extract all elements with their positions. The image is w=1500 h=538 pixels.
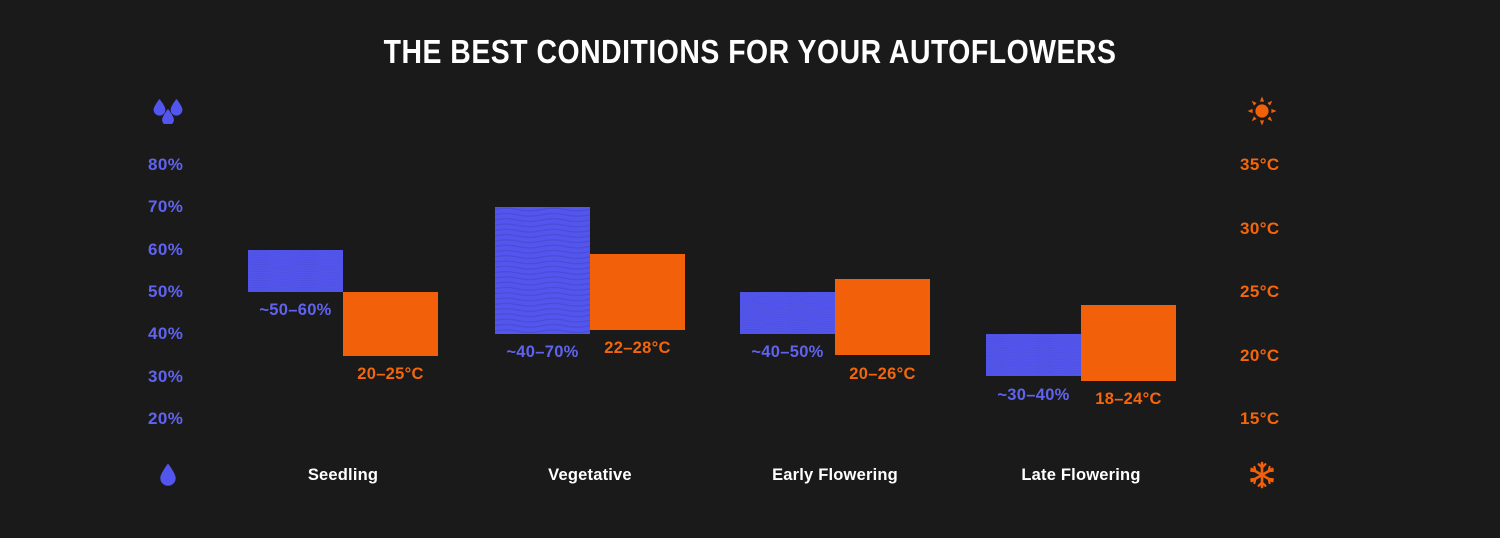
temperature-bar (835, 279, 930, 355)
humidity-bar (986, 334, 1081, 376)
humidity-bar (495, 207, 590, 334)
infographic-root: THE BEST CONDITIONS FOR YOUR AUTOFLOWERS… (0, 0, 1500, 538)
temperature-bar (590, 254, 685, 330)
humidity-value-label: ~40–50% (751, 343, 823, 362)
humidity-value-label: ~40–70% (506, 343, 578, 362)
temperature-value-label: 22–28°C (604, 339, 671, 358)
humidity-bar (740, 292, 835, 334)
category-label: Early Flowering (772, 466, 898, 485)
category-label: Late Flowering (1021, 466, 1140, 485)
humidity-value-label: ~50–60% (259, 301, 331, 320)
chart-plot-area: ~50–60%20–25°CSeedling~40–70%22–28°CVege… (0, 0, 1500, 538)
humidity-bar (248, 250, 343, 292)
category-label: Vegetative (548, 466, 632, 485)
category-label: Seedling (308, 466, 378, 485)
humidity-value-label: ~30–40% (997, 386, 1069, 405)
temperature-bar (1081, 305, 1176, 381)
temperature-bar (343, 292, 438, 356)
temperature-value-label: 18–24°C (1095, 390, 1162, 409)
temperature-value-label: 20–26°C (849, 365, 916, 384)
temperature-value-label: 20–25°C (357, 365, 424, 384)
